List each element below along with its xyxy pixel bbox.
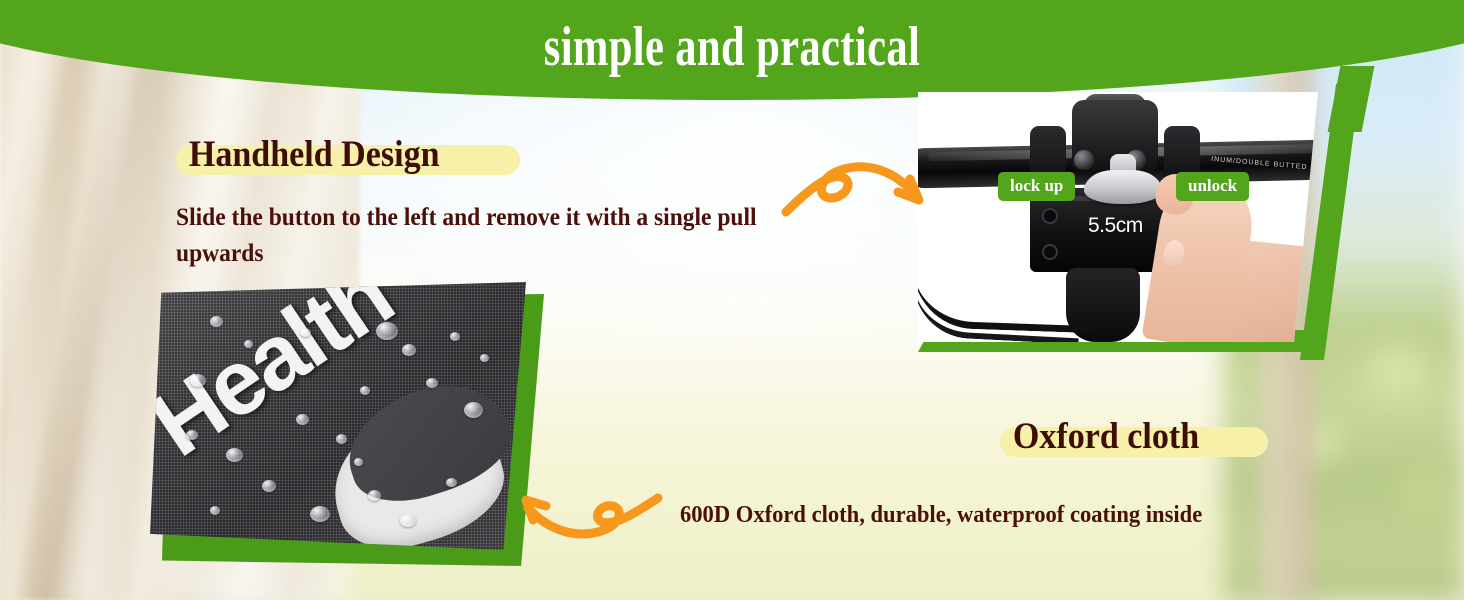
mount-hole-bottom-left xyxy=(1042,244,1058,260)
water-droplet xyxy=(360,386,370,395)
badge-unlock: unlock xyxy=(1176,172,1249,201)
water-droplet xyxy=(210,506,220,515)
release-slider-button xyxy=(1084,170,1162,204)
oxford-body-text: 600D Oxford cloth, durable, waterproof c… xyxy=(680,498,1272,532)
water-droplet xyxy=(310,506,330,522)
water-droplet xyxy=(300,328,311,337)
water-droplet xyxy=(336,434,347,444)
mount-hole-top-left xyxy=(1042,208,1058,224)
water-droplet xyxy=(244,340,253,348)
oxford-title-text: Oxford cloth xyxy=(1000,416,1212,459)
infographic-canvas: simple and practical INUM/DOUBLE BUTTED … xyxy=(0,0,1464,600)
water-droplet xyxy=(226,448,243,462)
water-droplet xyxy=(402,344,416,356)
water-droplet xyxy=(426,378,438,388)
oxford-title-block: Oxford cloth xyxy=(1000,416,1230,459)
water-droplet xyxy=(446,478,457,487)
page-title: simple and practical xyxy=(176,0,1289,100)
oxford-fabric-photo: Health xyxy=(150,282,546,570)
handheld-body-text: Slide the button to the left and remove … xyxy=(176,200,796,271)
dimension-label: 5.5cm xyxy=(1088,214,1143,238)
water-droplet xyxy=(464,402,483,418)
mount-bolt-left xyxy=(1074,150,1094,170)
water-droplet xyxy=(376,322,398,340)
water-droplet xyxy=(400,514,416,527)
bike-mount-photo: INUM/DOUBLE BUTTED 5.5cm lock up xyxy=(918,92,1360,360)
bike-mount-image: INUM/DOUBLE BUTTED 5.5cm xyxy=(918,92,1318,342)
water-droplet xyxy=(186,430,198,440)
brake-cable-2 xyxy=(918,278,1081,342)
fabric-image: Health xyxy=(150,282,526,550)
water-droplet xyxy=(480,354,489,362)
water-droplet xyxy=(190,374,206,387)
handheld-title-block: Handheld Design xyxy=(176,134,476,177)
curved-arrow-left-icon xyxy=(498,484,668,546)
curved-arrow-right-icon xyxy=(778,152,948,226)
water-droplet xyxy=(296,414,309,425)
badge-lock-up: lock up xyxy=(998,172,1075,201)
water-droplet xyxy=(262,480,276,492)
water-droplet xyxy=(450,332,460,341)
water-droplet xyxy=(210,316,223,327)
handheld-title-text: Handheld Design xyxy=(176,134,452,177)
water-droplet xyxy=(354,458,363,466)
water-droplet xyxy=(368,490,381,501)
